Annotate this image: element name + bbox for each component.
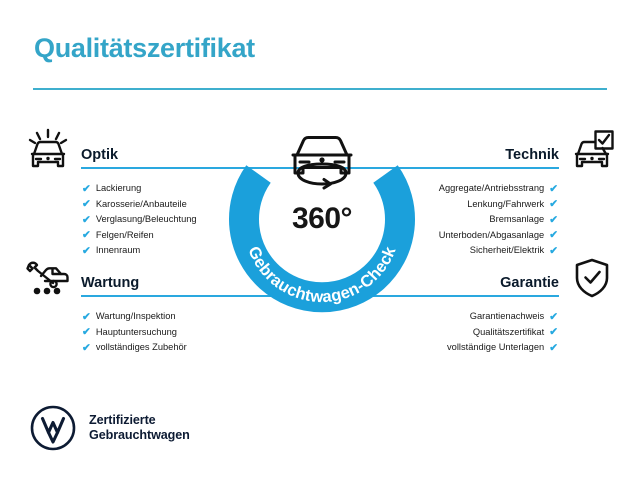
check-icon: ✔ [82,215,91,226]
check-icon: ✔ [549,230,558,241]
check-icon: ✔ [549,215,558,226]
list-item-label: Karosserie/Anbauteile [96,197,187,213]
volkswagen-logo [30,405,76,451]
quality-certificate-page: Qualitätszertifikat [0,0,640,480]
section-title: Optik [81,147,118,163]
check-icon: ✔ [82,327,91,338]
section-title: Garantie [500,275,559,291]
list-item: vollständige Unterlagen✔ [350,340,615,356]
check-icon: ✔ [82,343,91,354]
list-item-label: Garantienachweis [470,309,544,325]
check-icon: ✔ [549,184,558,195]
list-item-label: Verglasung/Beleuchtung [96,212,197,228]
footer-text: Zertifizierte Gebrauchtwagen [89,413,190,444]
footer-line-2: Gebrauchtwagen [89,428,190,442]
footer-branding: Zertifizierte Gebrauchtwagen [30,405,190,451]
list-item: ✔Hauptuntersuchung [25,325,290,341]
car-service-tool-icon [25,256,71,300]
check-icon: ✔ [82,246,91,257]
check-icon: ✔ [82,312,91,323]
list-item-label: Unterboden/Abgasanlage [439,228,544,244]
section-title: Wartung [81,275,139,291]
car-rotate-360-icon [293,138,351,189]
list-item-label: Hauptuntersuchung [96,325,177,341]
car-front-checkbox-icon [569,128,615,172]
list-item-label: Aggregate/Antriebsstrang [439,181,544,197]
section-title: Technik [505,147,559,163]
check-icon: ✔ [549,343,558,354]
list-item: Qualitätszertifikat✔ [350,325,615,341]
badge-degrees-label: 360° [222,202,422,236]
footer-line-1: Zertifizierte [89,413,156,427]
check-icon: ✔ [82,199,91,210]
list-item-label: Lackierung [96,181,141,197]
check-icon: ✔ [549,199,558,210]
list-item-label: Bremsanlage [489,212,544,228]
list-item-label: vollständige Unterlagen [447,340,544,356]
list-item-label: Felgen/Reifen [96,228,154,244]
badge-360-gebrauchtwagen-check: Gebrauchtwagen-Check 360° [222,118,422,318]
shield-check-icon [569,256,615,300]
list-item-label: vollständiges Zubehör [96,340,187,356]
check-icon: ✔ [549,327,558,338]
list-item-label: Lenkung/Fahrwerk [467,197,544,213]
check-icon: ✔ [549,312,558,323]
page-title: Qualitätszertifikat [34,33,255,64]
title-divider [33,88,607,90]
check-icon: ✔ [549,246,558,257]
check-icon: ✔ [82,184,91,195]
list-item-label: Qualitätszertifikat [473,325,544,341]
car-front-shine-icon [25,128,71,172]
list-item: ✔vollständiges Zubehör [25,340,290,356]
check-icon: ✔ [82,230,91,241]
list-item-label: Wartung/Inspektion [96,309,176,325]
